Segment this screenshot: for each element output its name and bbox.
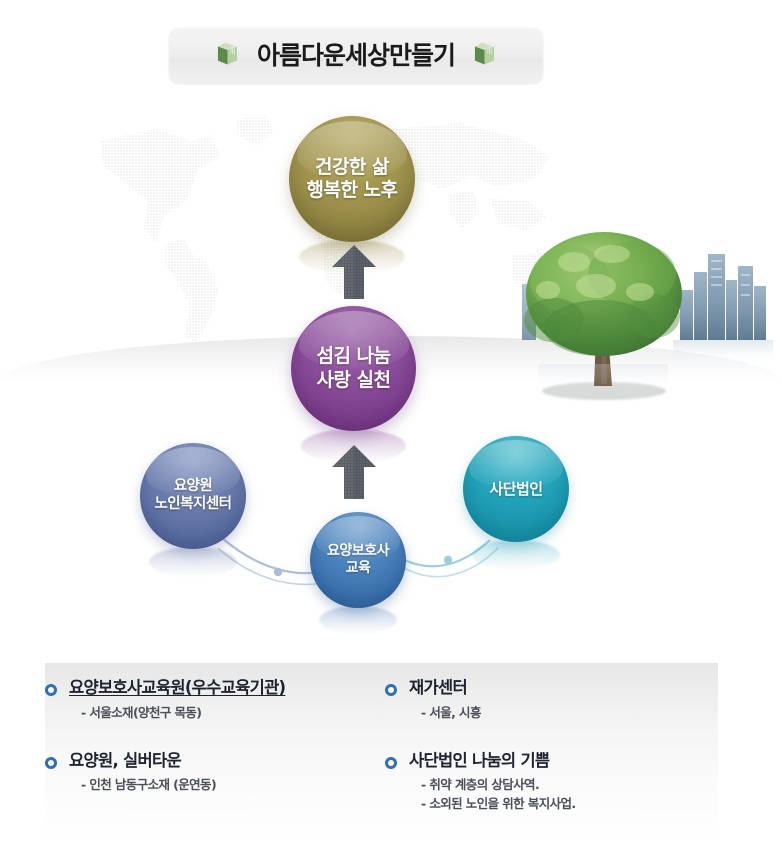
scenery-tree-and-city bbox=[508, 228, 782, 418]
list-item[interactable]: 재가센터 - 서울, 시흥 bbox=[385, 678, 745, 723]
diagram-node-care-home-label: 요양원 노인복지센터 bbox=[154, 478, 231, 513]
info-detail: - 소외된 노인을 위한 복지사업. bbox=[421, 795, 576, 814]
page-title: 아름다운세상만들기 bbox=[257, 43, 455, 68]
page-root: 아름다운세상만들기 bbox=[0, 0, 782, 867]
info-detail: - 인천 남동구소재 (운연동) bbox=[81, 776, 216, 795]
info-list: 요양보호사교육원(우수교육기관) - 서울소재(양천구 목동) 재가센터 - 서… bbox=[45, 678, 745, 814]
info-title: 사단법인 나눔의 기쁨 bbox=[409, 751, 576, 771]
list-item[interactable]: 요양보호사교육원(우수교육기관) - 서울소재(양천구 목동) bbox=[45, 678, 385, 723]
info-title: 재가센터 bbox=[409, 678, 481, 698]
list-item[interactable]: 사단법인 나눔의 기쁨 - 취약 계층의 상담사역. - 소외된 노인을 위한 … bbox=[385, 751, 745, 814]
header-banner: 아름다운세상만들기 bbox=[169, 27, 543, 83]
info-detail: - 서울, 시흥 bbox=[421, 704, 481, 723]
info-detail: - 서울소재(양천구 목동) bbox=[81, 704, 285, 723]
diagram-node-care-home[interactable]: 요양원 노인복지센터 bbox=[140, 443, 246, 549]
diagram-node-education-label: 요양보호사 교육 bbox=[327, 543, 389, 577]
leaf-icon-right bbox=[471, 42, 498, 69]
diagram-node-mission[interactable]: 섬김 나눔 사랑 실천 bbox=[291, 306, 416, 431]
leaf-icon-left bbox=[214, 42, 241, 69]
diagram-node-mission-label: 섬김 나눔 사랑 실천 bbox=[316, 345, 390, 391]
diagram-node-education[interactable]: 요양보호사 교육 bbox=[310, 512, 406, 608]
bullet-icon bbox=[45, 684, 57, 696]
bullet-icon bbox=[385, 684, 397, 696]
diagram-node-corporation[interactable]: 사단법인 bbox=[463, 436, 569, 542]
bullet-icon bbox=[45, 757, 57, 769]
diagram-node-corporation-label: 사단법인 bbox=[489, 480, 542, 498]
info-detail: - 취약 계층의 상담사역. bbox=[421, 776, 576, 795]
list-item[interactable]: 요양원, 실버타운 - 인천 남동구소재 (운연동) bbox=[45, 751, 385, 814]
info-title: 요양보호사교육원(우수교육기관) bbox=[69, 678, 285, 698]
tree bbox=[524, 232, 682, 392]
diagram-node-vision-label: 건강한 삶 행복한 노후 bbox=[306, 156, 397, 202]
arrow-up-icon-to-vision bbox=[330, 243, 378, 301]
info-title: 요양원, 실버타운 bbox=[69, 751, 216, 771]
diagram-node-vision[interactable]: 건강한 삶 행복한 노후 bbox=[289, 116, 415, 242]
bullet-icon bbox=[385, 757, 397, 769]
arrow-up-icon-to-mission bbox=[330, 443, 378, 501]
